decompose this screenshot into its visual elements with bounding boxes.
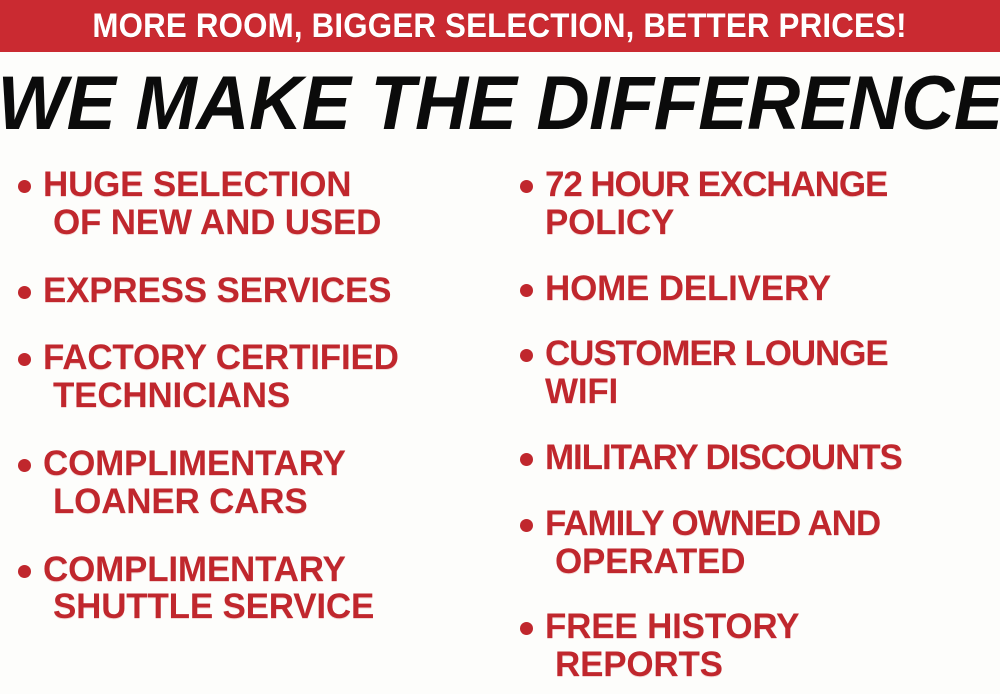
list-item: HUGE SELECTION OF NEW AND USED [18, 166, 500, 242]
bullet-dot-icon [18, 180, 31, 193]
list-item-line: TECHNICIANS [43, 377, 500, 415]
list-item-text: COMPLIMENTARY LOANER CARS [43, 445, 500, 521]
list-item-line: OF NEW AND USED [43, 204, 500, 242]
list-item: 72 HOUR EXCHANGE POLICY [520, 166, 1000, 242]
list-item: COMPLIMENTARY LOANER CARS [18, 445, 500, 521]
list-item-text: COMPLIMENTARY SHUTTLE SERVICE [43, 551, 500, 627]
list-item-line: FAMILY OWNED AND [545, 505, 1000, 543]
bullet-dot-icon [520, 622, 533, 635]
list-item-line: OPERATED [545, 543, 1000, 581]
list-item-text: HUGE SELECTION OF NEW AND USED [43, 166, 500, 242]
list-item-line: FREE HISTORY [545, 608, 1000, 646]
page-title: WE MAKE THE DIFFERENCE [0, 66, 1000, 142]
list-item-line: CUSTOMER LOUNGE [545, 335, 1000, 373]
list-item-text: EXPRESS SERVICES [43, 272, 500, 310]
bullet-dot-icon [520, 349, 533, 362]
list-item-text: FAMILY OWNED AND OPERATED [545, 505, 1000, 581]
list-item: EXPRESS SERVICES [18, 272, 500, 310]
list-item-line: FACTORY CERTIFIED [43, 339, 500, 377]
list-item: COMPLIMENTARY SHUTTLE SERVICE [18, 551, 500, 627]
bullet-dot-icon [520, 284, 533, 297]
list-item-text: FREE HISTORY REPORTS [545, 608, 1000, 684]
list-item-line: MILITARY DISCOUNTS [545, 439, 1000, 477]
list-item-line: HOME DELIVERY [545, 270, 1000, 308]
bullet-dot-icon [18, 286, 31, 299]
list-item-text: FACTORY CERTIFIED TECHNICIANS [43, 339, 500, 415]
list-item-line: EXPRESS SERVICES [43, 272, 500, 310]
list-item-line: LOANER CARS [43, 483, 500, 521]
list-item: FACTORY CERTIFIED TECHNICIANS [18, 339, 500, 415]
list-item: HOME DELIVERY [520, 270, 1000, 308]
bullet-dot-icon [18, 353, 31, 366]
bullet-dot-icon [18, 459, 31, 472]
banner-headline-text: MORE ROOM, BIGGER SELECTION, BETTER PRIC… [93, 9, 907, 43]
list-item-text: 72 HOUR EXCHANGE POLICY [545, 166, 1000, 242]
list-item: MILITARY DISCOUNTS [520, 439, 1000, 477]
benefits-column-left: HUGE SELECTION OF NEW AND USED EXPRESS S… [0, 158, 500, 694]
promo-poster: MORE ROOM, BIGGER SELECTION, BETTER PRIC… [0, 0, 1000, 694]
list-item-line: SHUTTLE SERVICE [43, 588, 500, 626]
bullet-dot-icon [520, 519, 533, 532]
list-item-line: HUGE SELECTION [43, 166, 500, 204]
list-item-line: WIFI [545, 373, 1000, 411]
list-item-line: POLICY [545, 204, 1000, 242]
list-item-line: REPORTS [545, 646, 1000, 684]
bullet-dot-icon [18, 565, 31, 578]
list-item-text: MILITARY DISCOUNTS [545, 439, 1000, 477]
list-item-text: CUSTOMER LOUNGE WIFI [545, 335, 1000, 411]
bullet-dot-icon [520, 453, 533, 466]
bullet-dot-icon [520, 180, 533, 193]
benefits-column-right: 72 HOUR EXCHANGE POLICY HOME DELIVERY CU… [500, 158, 1000, 694]
list-item: FREE HISTORY REPORTS [520, 608, 1000, 684]
list-item-line: COMPLIMENTARY [43, 445, 500, 483]
benefits-columns: HUGE SELECTION OF NEW AND USED EXPRESS S… [0, 158, 1000, 694]
list-item-text: HOME DELIVERY [545, 270, 1000, 308]
main-headline-container: WE MAKE THE DIFFERENCE [0, 58, 1000, 150]
top-banner: MORE ROOM, BIGGER SELECTION, BETTER PRIC… [0, 0, 1000, 52]
list-item-line: COMPLIMENTARY [43, 551, 500, 589]
list-item: CUSTOMER LOUNGE WIFI [520, 335, 1000, 411]
list-item-line: 72 HOUR EXCHANGE [545, 166, 1000, 204]
list-item: FAMILY OWNED AND OPERATED [520, 505, 1000, 581]
